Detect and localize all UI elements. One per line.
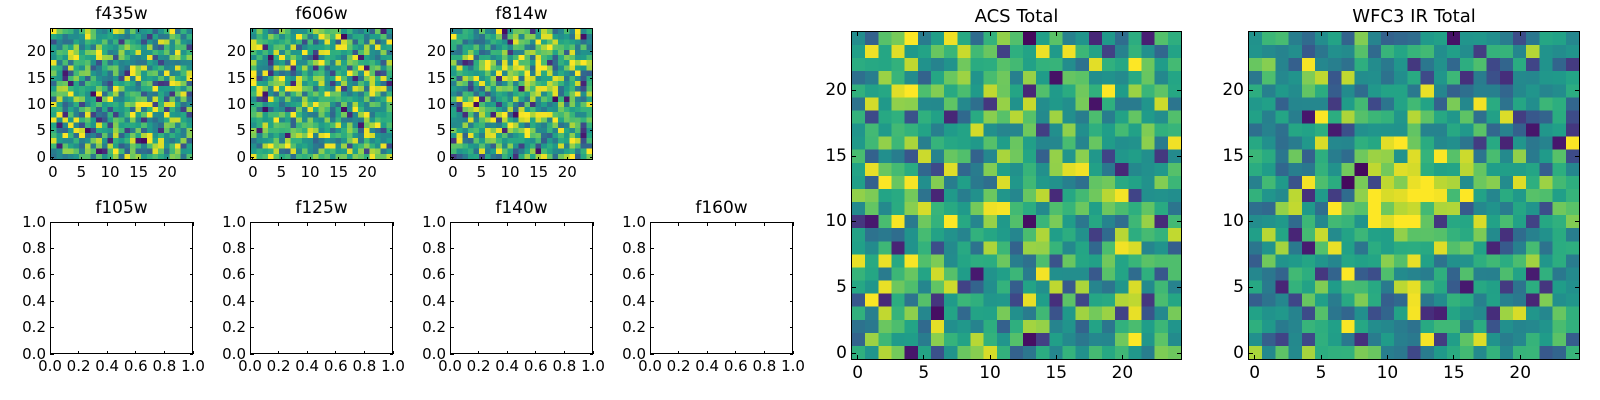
xtick-wfc3-3 bbox=[1453, 355, 1454, 360]
yticklabel-acs-0: 0 bbox=[787, 344, 847, 363]
xtick-f105w-4 bbox=[164, 351, 165, 355]
xticklabel-acs-2: 10 bbox=[960, 364, 1020, 383]
yticklabel-f105w-3: 0.6 bbox=[0, 266, 46, 283]
ytick-f125w-0 bbox=[250, 354, 254, 355]
xtick-top-f125w-4 bbox=[364, 222, 365, 226]
xtick-top-acs-1 bbox=[923, 31, 924, 36]
subplot-title-f105w: f105w bbox=[50, 198, 193, 218]
ytick-right-f814w-4 bbox=[590, 51, 594, 52]
ytick-right-acs-3 bbox=[1177, 156, 1182, 157]
plot-area-f606w[interactable] bbox=[250, 28, 393, 160]
ytick-f435w-3 bbox=[50, 78, 54, 79]
xtick-f814w-2 bbox=[510, 157, 511, 161]
yticklabel-f435w-3: 15 bbox=[0, 70, 46, 87]
yticklabel-f160w-5: 1.0 bbox=[586, 214, 646, 231]
ytick-right-f160w-1 bbox=[790, 327, 794, 328]
xtick-f105w-3 bbox=[135, 351, 136, 355]
ytick-right-acs-2 bbox=[1177, 221, 1182, 222]
yticklabel-f814w-4: 20 bbox=[386, 43, 446, 60]
xtick-acs-2 bbox=[990, 355, 991, 360]
xtick-f435w-2 bbox=[110, 157, 111, 161]
ytick-f435w-0 bbox=[50, 157, 54, 158]
yticklabel-f105w-5: 1.0 bbox=[0, 214, 46, 231]
xtick-top-f105w-0 bbox=[50, 222, 51, 226]
xtick-top-f814w-1 bbox=[481, 28, 482, 32]
xtick-top-f140w-1 bbox=[478, 222, 479, 226]
ytick-f105w-5 bbox=[50, 222, 54, 223]
ytick-wfc3-4 bbox=[1248, 90, 1253, 91]
xticklabel-acs-0: 0 bbox=[828, 364, 888, 383]
xtick-f125w-4 bbox=[364, 351, 365, 355]
yticklabel-wfc3-4: 20 bbox=[1184, 81, 1244, 100]
yticklabel-f606w-4: 20 bbox=[186, 43, 246, 60]
xtick-top-f125w-3 bbox=[335, 222, 336, 226]
yticklabel-f125w-1: 0.2 bbox=[186, 319, 246, 336]
ytick-right-f160w-4 bbox=[790, 248, 794, 249]
plot-area-f105w[interactable] bbox=[50, 222, 193, 354]
xtick-top-f606w-4 bbox=[367, 28, 368, 32]
xtick-top-acs-3 bbox=[1056, 31, 1057, 36]
xtick-f606w-3 bbox=[338, 157, 339, 161]
ytick-f140w-1 bbox=[450, 327, 454, 328]
xtick-f105w-2 bbox=[107, 351, 108, 355]
ytick-f125w-3 bbox=[250, 274, 254, 275]
ytick-right-f814w-3 bbox=[590, 78, 594, 79]
xtick-top-f435w-2 bbox=[110, 28, 111, 32]
xtick-f160w-1 bbox=[678, 351, 679, 355]
xtick-f105w-1 bbox=[78, 351, 79, 355]
xtick-top-wfc3-4 bbox=[1520, 31, 1521, 36]
xtick-top-f160w-3 bbox=[735, 222, 736, 226]
yticklabel-f606w-2: 10 bbox=[186, 96, 246, 113]
xtick-top-f814w-3 bbox=[538, 28, 539, 32]
yticklabel-wfc3-2: 10 bbox=[1184, 212, 1244, 231]
ytick-f160w-1 bbox=[650, 327, 654, 328]
xticklabel-wfc3-0: 0 bbox=[1225, 364, 1285, 383]
ytick-f125w-1 bbox=[250, 327, 254, 328]
xtick-f125w-2 bbox=[307, 351, 308, 355]
ytick-right-wfc3-1 bbox=[1575, 287, 1580, 288]
subplot-title-f125w: f125w bbox=[250, 198, 393, 218]
ytick-f125w-2 bbox=[250, 301, 254, 302]
yticklabel-f125w-5: 1.0 bbox=[186, 214, 246, 231]
xtick-top-acs-4 bbox=[1122, 31, 1123, 36]
yticklabel-f125w-2: 0.4 bbox=[186, 293, 246, 310]
xtick-f435w-3 bbox=[138, 157, 139, 161]
subplot-title-f606w: f606w bbox=[250, 4, 393, 24]
xtick-top-wfc3-0 bbox=[1254, 31, 1255, 36]
xtick-top-f435w-4 bbox=[167, 28, 168, 32]
ytick-wfc3-3 bbox=[1248, 156, 1253, 157]
yticklabel-wfc3-3: 15 bbox=[1184, 147, 1244, 166]
yticklabel-acs-3: 15 bbox=[787, 147, 847, 166]
yticklabel-acs-4: 20 bbox=[787, 81, 847, 100]
yticklabel-f435w-0: 0 bbox=[0, 149, 46, 166]
yticklabel-wfc3-0: 0 bbox=[1184, 344, 1244, 363]
yticklabel-f435w-1: 5 bbox=[0, 122, 46, 139]
ytick-right-f160w-2 bbox=[790, 301, 794, 302]
xtick-top-f606w-0 bbox=[252, 28, 253, 32]
yticklabel-f140w-3: 0.6 bbox=[386, 266, 446, 283]
xtick-f125w-3 bbox=[335, 351, 336, 355]
ytick-f105w-1 bbox=[50, 327, 54, 328]
xtick-top-f814w-0 bbox=[452, 28, 453, 32]
xtick-top-f606w-2 bbox=[310, 28, 311, 32]
subplot-title-f814w: f814w bbox=[450, 4, 593, 24]
ytick-wfc3-2 bbox=[1248, 221, 1253, 222]
xtick-top-f105w-2 bbox=[107, 222, 108, 226]
xtick-top-f814w-4 bbox=[567, 28, 568, 32]
ytick-wfc3-0 bbox=[1248, 353, 1253, 354]
xtick-f814w-3 bbox=[538, 157, 539, 161]
yticklabel-f160w-4: 0.8 bbox=[586, 240, 646, 257]
xticklabel-acs-4: 20 bbox=[1092, 364, 1152, 383]
yticklabel-f140w-2: 0.4 bbox=[386, 293, 446, 310]
ytick-acs-0 bbox=[851, 353, 856, 354]
xticklabel-acs-3: 15 bbox=[1026, 364, 1086, 383]
xtick-f814w-4 bbox=[567, 157, 568, 161]
xticklabel-wfc3-1: 5 bbox=[1291, 364, 1351, 383]
xtick-f140w-1 bbox=[478, 351, 479, 355]
yticklabel-f125w-4: 0.8 bbox=[186, 240, 246, 257]
xtick-top-f140w-3 bbox=[535, 222, 536, 226]
yticklabel-f105w-0: 0.0 bbox=[0, 346, 46, 363]
plot-area-f814w[interactable] bbox=[450, 28, 593, 160]
xtick-top-f435w-0 bbox=[52, 28, 53, 32]
xtick-acs-1 bbox=[923, 355, 924, 360]
xtick-top-f125w-2 bbox=[307, 222, 308, 226]
subplot-title-wfc3: WFC3 IR Total bbox=[1248, 6, 1580, 27]
ytick-f814w-4 bbox=[450, 51, 454, 52]
xtick-f140w-4 bbox=[564, 351, 565, 355]
ytick-f140w-5 bbox=[450, 222, 454, 223]
ytick-f606w-3 bbox=[250, 78, 254, 79]
ytick-f140w-4 bbox=[450, 248, 454, 249]
xticklabel-f814w-4: 20 bbox=[537, 164, 597, 181]
yticklabel-wfc3-1: 5 bbox=[1184, 278, 1244, 297]
xtick-top-f435w-3 bbox=[138, 28, 139, 32]
xticklabel-f606w-4: 20 bbox=[337, 164, 397, 181]
ytick-f140w-2 bbox=[450, 301, 454, 302]
xtick-top-f140w-4 bbox=[564, 222, 565, 226]
xtick-f140w-2 bbox=[507, 351, 508, 355]
ytick-f160w-2 bbox=[650, 301, 654, 302]
yticklabel-f814w-0: 0 bbox=[386, 149, 446, 166]
ytick-right-f814w-1 bbox=[590, 130, 594, 131]
ytick-f435w-2 bbox=[50, 104, 54, 105]
xtick-top-f435w-1 bbox=[81, 28, 82, 32]
ytick-f814w-2 bbox=[450, 104, 454, 105]
yticklabel-f160w-2: 0.4 bbox=[586, 293, 646, 310]
yticklabel-f814w-1: 5 bbox=[386, 122, 446, 139]
ytick-right-f814w-2 bbox=[590, 104, 594, 105]
ytick-f814w-3 bbox=[450, 78, 454, 79]
ytick-f606w-0 bbox=[250, 157, 254, 158]
xtick-top-f140w-0 bbox=[450, 222, 451, 226]
ytick-f105w-2 bbox=[50, 301, 54, 302]
yticklabel-f160w-3: 0.6 bbox=[586, 266, 646, 283]
yticklabel-f140w-1: 0.2 bbox=[386, 319, 446, 336]
plot-area-f160w[interactable] bbox=[650, 222, 793, 354]
ytick-f125w-4 bbox=[250, 248, 254, 249]
yticklabel-f814w-3: 15 bbox=[386, 70, 446, 87]
ytick-f606w-2 bbox=[250, 104, 254, 105]
heatmap-image-f435w bbox=[51, 29, 192, 159]
ytick-right-wfc3-3 bbox=[1575, 156, 1580, 157]
plot-area-f140w[interactable] bbox=[450, 222, 593, 354]
yticklabel-f814w-2: 10 bbox=[386, 96, 446, 113]
xtick-top-f105w-1 bbox=[78, 222, 79, 226]
ytick-f105w-3 bbox=[50, 274, 54, 275]
subplot-title-f435w: f435w bbox=[50, 4, 193, 24]
xticklabel-wfc3-3: 15 bbox=[1424, 364, 1484, 383]
ytick-acs-2 bbox=[851, 221, 856, 222]
plot-area-wfc3[interactable] bbox=[1248, 31, 1580, 360]
xtick-f160w-2 bbox=[707, 351, 708, 355]
xtick-wfc3-4 bbox=[1520, 355, 1521, 360]
yticklabel-f606w-0: 0 bbox=[186, 149, 246, 166]
xtick-f125w-1 bbox=[278, 351, 279, 355]
ytick-right-wfc3-2 bbox=[1575, 221, 1580, 222]
ytick-f160w-5 bbox=[650, 222, 654, 223]
ytick-wfc3-1 bbox=[1248, 287, 1253, 288]
xtick-f606w-1 bbox=[281, 157, 282, 161]
xtick-top-wfc3-3 bbox=[1453, 31, 1454, 36]
ytick-f125w-5 bbox=[250, 222, 254, 223]
xtick-acs-3 bbox=[1056, 355, 1057, 360]
ytick-right-wfc3-0 bbox=[1575, 353, 1580, 354]
yticklabel-f160w-0: 0.0 bbox=[586, 346, 646, 363]
xtick-top-acs-0 bbox=[857, 31, 858, 36]
ytick-f435w-1 bbox=[50, 130, 54, 131]
yticklabel-f140w-5: 1.0 bbox=[386, 214, 446, 231]
xtick-wfc3-2 bbox=[1387, 355, 1388, 360]
ytick-f160w-3 bbox=[650, 274, 654, 275]
ytick-f435w-4 bbox=[50, 51, 54, 52]
subplot-title-f140w: f140w bbox=[450, 198, 593, 218]
heatmap-image-f814w bbox=[451, 29, 592, 159]
yticklabel-f125w-3: 0.6 bbox=[186, 266, 246, 283]
xtick-top-acs-2 bbox=[990, 31, 991, 36]
xtick-top-f160w-4 bbox=[764, 222, 765, 226]
xtick-top-f125w-0 bbox=[250, 222, 251, 226]
xtick-f435w-4 bbox=[167, 157, 168, 161]
xtick-top-f125w-1 bbox=[278, 222, 279, 226]
xticklabel-f435w-4: 20 bbox=[137, 164, 197, 181]
ytick-f814w-1 bbox=[450, 130, 454, 131]
xtick-f435w-1 bbox=[81, 157, 82, 161]
yticklabel-f606w-3: 15 bbox=[186, 70, 246, 87]
yticklabel-acs-2: 10 bbox=[787, 212, 847, 231]
xtick-acs-4 bbox=[1122, 355, 1123, 360]
xtick-top-f814w-2 bbox=[510, 28, 511, 32]
ytick-f140w-3 bbox=[450, 274, 454, 275]
yticklabel-f160w-1: 0.2 bbox=[586, 319, 646, 336]
plot-area-f435w[interactable] bbox=[50, 28, 193, 160]
yticklabel-f606w-1: 5 bbox=[186, 122, 246, 139]
xtick-top-f160w-1 bbox=[678, 222, 679, 226]
xtick-top-wfc3-1 bbox=[1321, 31, 1322, 36]
xtick-f606w-2 bbox=[310, 157, 311, 161]
ytick-f606w-1 bbox=[250, 130, 254, 131]
xtick-f140w-3 bbox=[535, 351, 536, 355]
yticklabel-f140w-0: 0.0 bbox=[386, 346, 446, 363]
xtick-f160w-3 bbox=[735, 351, 736, 355]
ytick-right-acs-0 bbox=[1177, 353, 1182, 354]
ytick-right-wfc3-4 bbox=[1575, 90, 1580, 91]
ytick-right-f160w-3 bbox=[790, 274, 794, 275]
xticklabel-acs-1: 5 bbox=[894, 364, 954, 383]
ytick-f814w-0 bbox=[450, 157, 454, 158]
yticklabel-f140w-4: 0.8 bbox=[386, 240, 446, 257]
plot-area-f125w[interactable] bbox=[250, 222, 393, 354]
xtick-top-f160w-2 bbox=[707, 222, 708, 226]
subplot-title-acs: ACS Total bbox=[851, 6, 1182, 27]
ytick-right-acs-1 bbox=[1177, 287, 1182, 288]
xtick-wfc3-0 bbox=[1254, 355, 1255, 360]
yticklabel-f435w-4: 20 bbox=[0, 43, 46, 60]
ytick-right-f814w-0 bbox=[590, 157, 594, 158]
ytick-right-acs-4 bbox=[1177, 90, 1182, 91]
ytick-f105w-0 bbox=[50, 354, 54, 355]
xtick-top-f105w-4 bbox=[164, 222, 165, 226]
ytick-f105w-4 bbox=[50, 248, 54, 249]
ytick-f606w-4 bbox=[250, 51, 254, 52]
xtick-wfc3-1 bbox=[1321, 355, 1322, 360]
xtick-top-f606w-1 bbox=[281, 28, 282, 32]
xtick-top-f105w-3 bbox=[135, 222, 136, 226]
ytick-acs-1 bbox=[851, 287, 856, 288]
heatmap-image-wfc3 bbox=[1249, 32, 1579, 359]
xticklabel-wfc3-4: 20 bbox=[1490, 364, 1550, 383]
yticklabel-f105w-2: 0.4 bbox=[0, 293, 46, 310]
xtick-top-f606w-3 bbox=[338, 28, 339, 32]
xtick-top-f140w-2 bbox=[507, 222, 508, 226]
yticklabel-f105w-4: 0.8 bbox=[0, 240, 46, 257]
xtick-top-wfc3-2 bbox=[1387, 31, 1388, 36]
ytick-acs-4 bbox=[851, 90, 856, 91]
yticklabel-f125w-0: 0.0 bbox=[186, 346, 246, 363]
yticklabel-acs-1: 5 bbox=[787, 278, 847, 297]
xtick-acs-0 bbox=[857, 355, 858, 360]
yticklabel-f105w-1: 0.2 bbox=[0, 319, 46, 336]
ytick-f160w-4 bbox=[650, 248, 654, 249]
xtick-f814w-1 bbox=[481, 157, 482, 161]
yticklabel-f435w-2: 10 bbox=[0, 96, 46, 113]
heatmap-image-f606w bbox=[251, 29, 392, 159]
xtick-f606w-4 bbox=[367, 157, 368, 161]
xtick-f160w-4 bbox=[764, 351, 765, 355]
heatmap-image-acs bbox=[852, 32, 1181, 359]
ytick-acs-3 bbox=[851, 156, 856, 157]
subplot-title-f160w: f160w bbox=[650, 198, 793, 218]
xticklabel-wfc3-2: 10 bbox=[1357, 364, 1417, 383]
plot-area-acs[interactable] bbox=[851, 31, 1182, 360]
ytick-f160w-0 bbox=[650, 354, 654, 355]
xtick-top-f160w-0 bbox=[650, 222, 651, 226]
ytick-f140w-0 bbox=[450, 354, 454, 355]
